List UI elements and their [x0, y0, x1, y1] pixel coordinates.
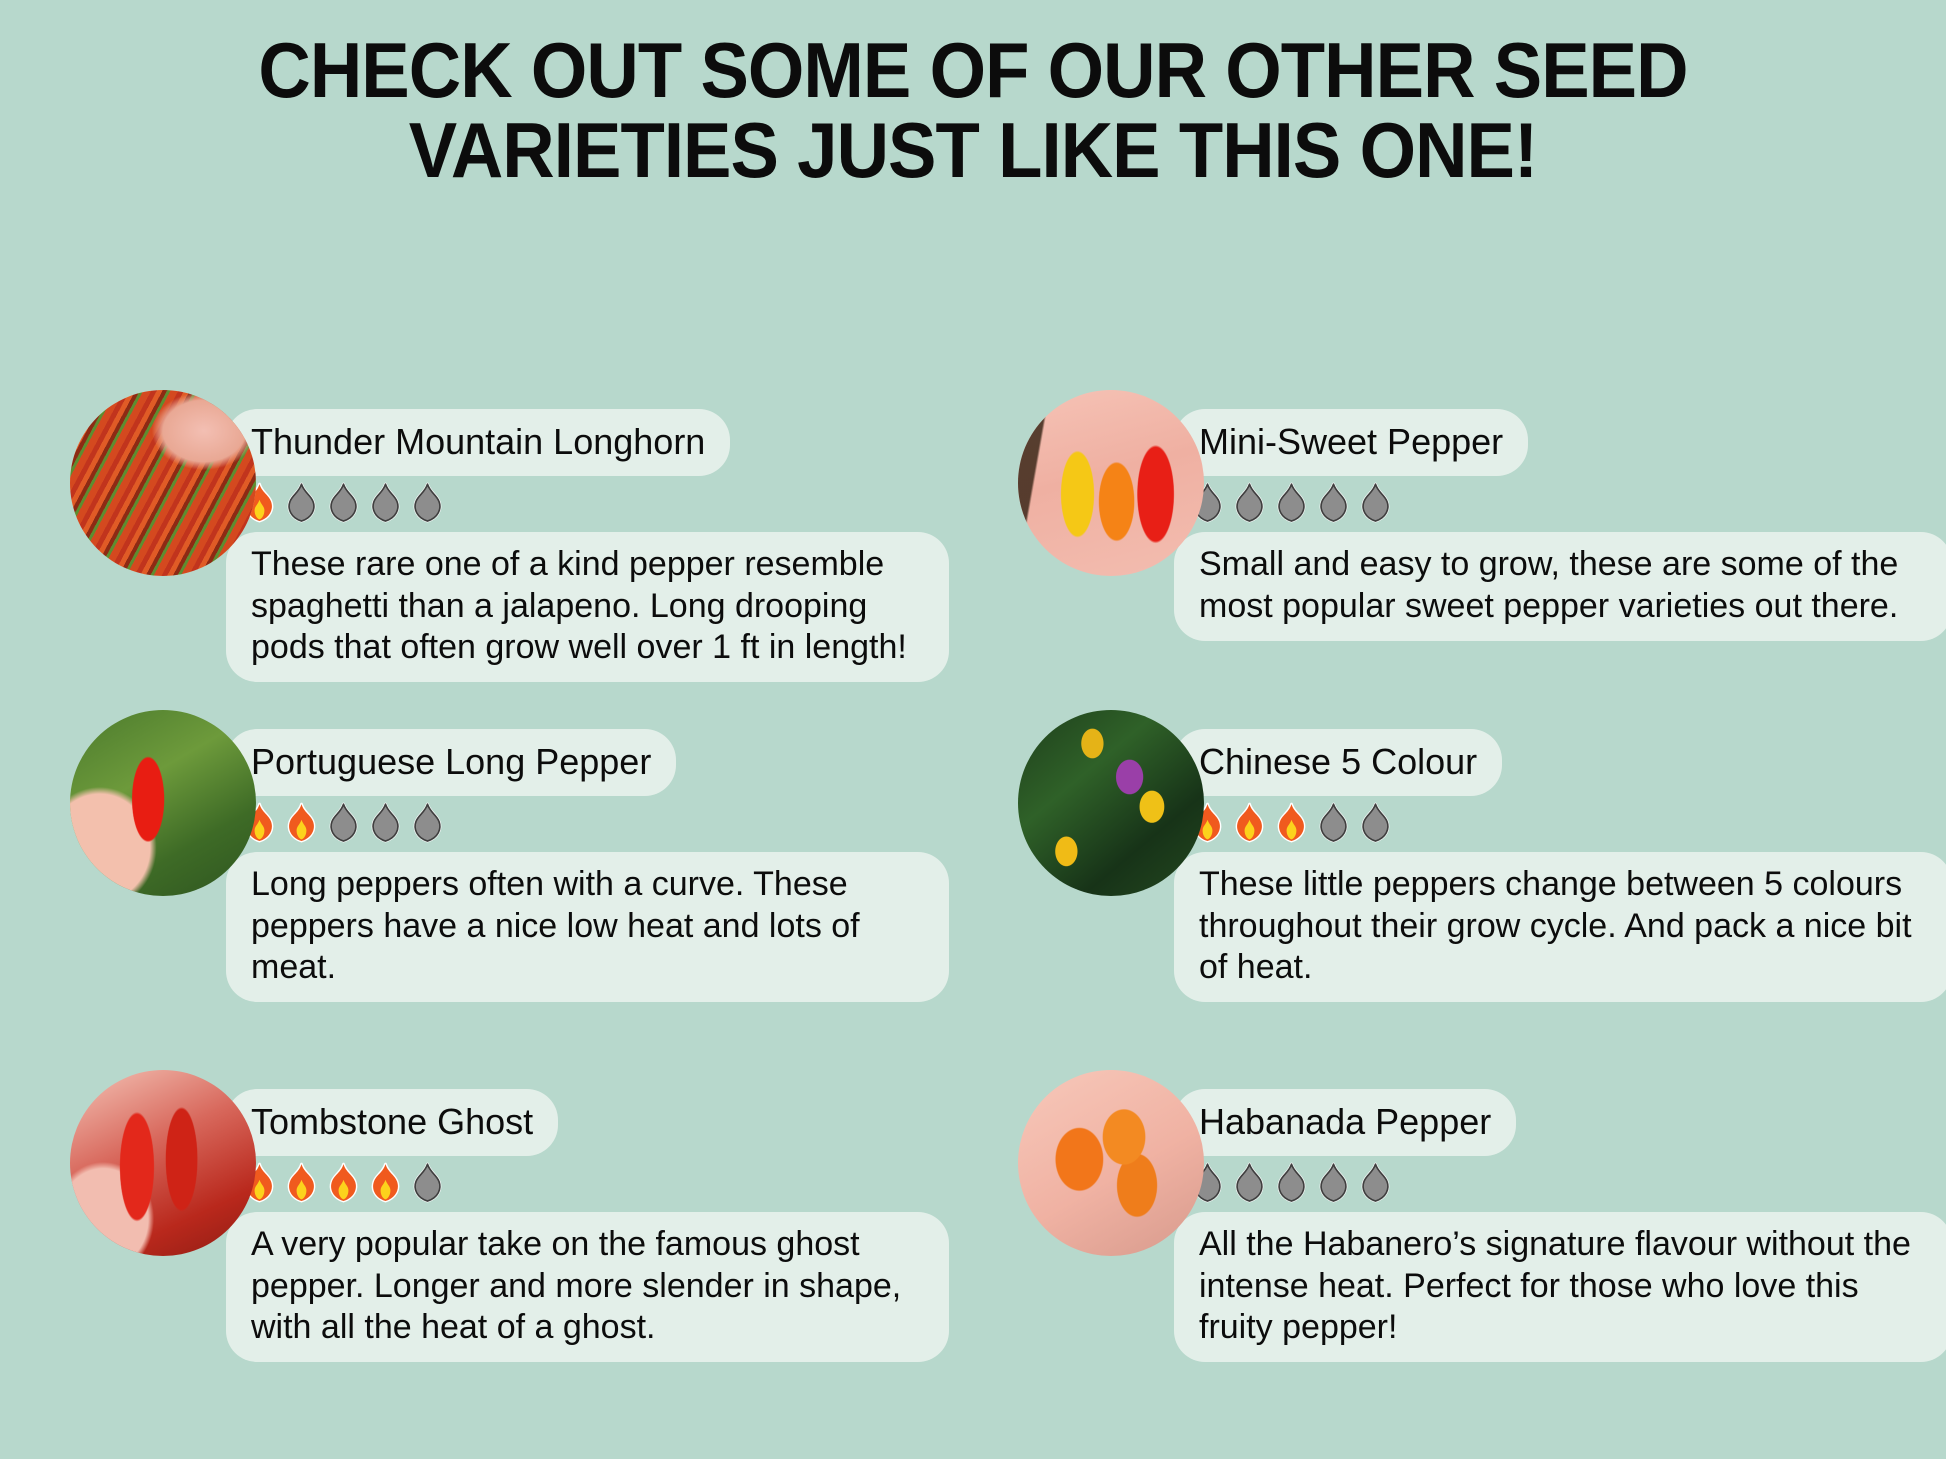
- flame-off-icon: [407, 481, 448, 525]
- portuguese-long-pepper-photo: [70, 710, 256, 896]
- flame-off-icon: [1271, 481, 1312, 525]
- flame-lit-icon: [281, 1161, 322, 1205]
- page-title: CHECK OUT SOME OF OUR OTHER SEED VARIETI…: [68, 30, 1878, 191]
- card-title: Portuguese Long Pepper: [235, 738, 667, 787]
- variety-card-grid: Thunder Mountain Longhorn These rare one…: [0, 370, 1946, 1430]
- flame-off-icon: [281, 481, 322, 525]
- heat-rating: [239, 481, 940, 525]
- card-title: Mini-Sweet Pepper: [1183, 418, 1519, 467]
- mini-sweet-pepper-photo: [1018, 390, 1204, 576]
- flame-off-icon: [1313, 801, 1354, 845]
- flame-off-icon: [323, 481, 364, 525]
- flame-off-icon: [1313, 481, 1354, 525]
- thunder-mountain-longhorn-photo: [70, 390, 256, 576]
- flame-off-icon: [1313, 1161, 1354, 1205]
- flame-off-icon: [1229, 481, 1270, 525]
- card-description: These rare one of a kind pepper resemble…: [235, 541, 940, 673]
- card-description: All the Habanero’s signature flavour wit…: [1183, 1221, 1943, 1353]
- flame-off-icon: [1271, 1161, 1312, 1205]
- card-body: Mini-Sweet Pepper Small and easy to grow…: [1183, 418, 1943, 632]
- flame-lit-icon: [323, 1161, 364, 1205]
- flame-off-icon: [1355, 801, 1396, 845]
- heat-rating: [1187, 1161, 1943, 1205]
- flame-off-icon: [1355, 481, 1396, 525]
- heat-rating: [239, 1161, 940, 1205]
- card-title: Thunder Mountain Longhorn: [235, 418, 721, 467]
- flame-lit-icon: [281, 801, 322, 845]
- card-description: Long peppers often with a curve. These p…: [235, 861, 940, 993]
- flame-off-icon: [323, 801, 364, 845]
- page-root: { "headline": { "line1": "CHECK OUT SOME…: [0, 0, 1946, 1459]
- flame-off-icon: [407, 1161, 448, 1205]
- card-description: These little peppers change between 5 co…: [1183, 861, 1943, 993]
- flame-off-icon: [1229, 1161, 1270, 1205]
- flame-off-icon: [365, 481, 406, 525]
- heat-rating: [1187, 481, 1943, 525]
- flame-lit-icon: [1271, 801, 1312, 845]
- card-title: Chinese 5 Colour: [1183, 738, 1493, 787]
- card-description: A very popular take on the famous ghost …: [235, 1221, 940, 1353]
- page-title-line-2: VARIETIES JUST LIKE THIS ONE!: [68, 110, 1878, 190]
- heat-rating: [1187, 801, 1943, 845]
- card-body: Chinese 5 Colour These little peppers ch…: [1183, 738, 1943, 993]
- flame-off-icon: [365, 801, 406, 845]
- flame-off-icon: [1355, 1161, 1396, 1205]
- habanada-pepper-photo: [1018, 1070, 1204, 1256]
- card-description: Small and easy to grow, these are some o…: [1183, 541, 1943, 632]
- card-body: Habanada Pepper All the Habanero’s signa…: [1183, 1098, 1943, 1353]
- flame-off-icon: [407, 801, 448, 845]
- flame-lit-icon: [1229, 801, 1270, 845]
- flame-lit-icon: [365, 1161, 406, 1205]
- page-title-line-1: CHECK OUT SOME OF OUR OTHER SEED: [68, 30, 1878, 110]
- heat-rating: [239, 801, 940, 845]
- card-title: Tombstone Ghost: [235, 1098, 549, 1147]
- card-body: Tombstone Ghost A very popular take on t…: [235, 1098, 940, 1353]
- tombstone-ghost-photo: [70, 1070, 256, 1256]
- card-body: Thunder Mountain Longhorn These rare one…: [235, 418, 940, 673]
- card-body: Portuguese Long Pepper Long peppers ofte…: [235, 738, 940, 993]
- chinese-5-colour-photo: [1018, 710, 1204, 896]
- card-title: Habanada Pepper: [1183, 1098, 1507, 1147]
